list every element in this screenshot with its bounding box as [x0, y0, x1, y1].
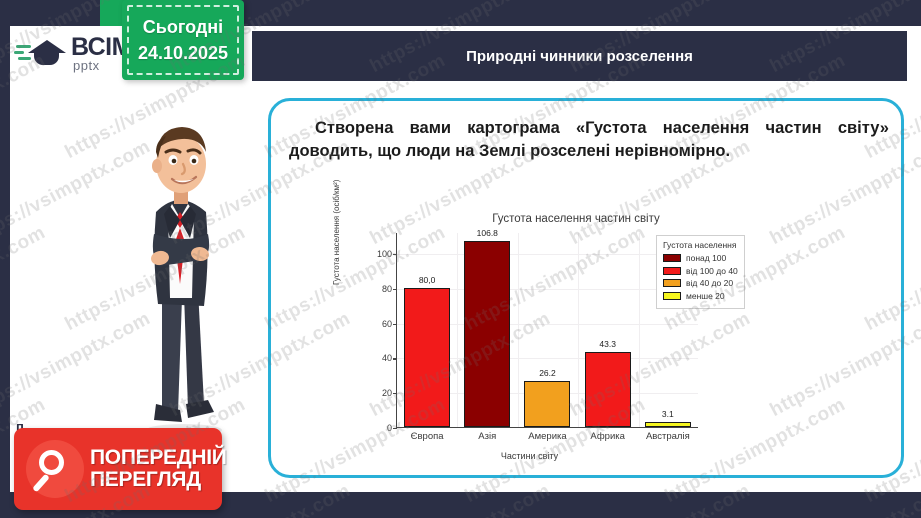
slide-canvas: ВСІМ pptx Сьогодні 24.10.2025 Природні ч…	[0, 0, 921, 518]
x-tick-label: Америка	[528, 431, 566, 442]
chart-bar	[524, 381, 570, 427]
chart-bar	[645, 422, 691, 427]
y-tick-label: 60	[382, 319, 392, 329]
bar-value-label: 106.8	[477, 228, 498, 238]
x-tick-label: Європа	[411, 431, 444, 442]
page-title: Природні чинники розселення	[466, 48, 693, 65]
chart-bar-column: 80,0Європа	[404, 233, 450, 427]
chart-bar	[464, 241, 510, 427]
legend-swatch	[663, 279, 681, 287]
legend-title: Густота населення	[663, 240, 738, 250]
chart-bars: 80,0Європа106.8Азія26.2Америка43.3Африка…	[397, 233, 698, 427]
body-paragraph: Створена вами картограма «Густота населе…	[289, 117, 889, 164]
graduation-cap-icon	[14, 33, 66, 73]
preview-badge-line1: ПОПЕРЕДНІЙ	[90, 447, 227, 469]
preview-badge-line2: ПЕРЕГЛЯД	[90, 469, 227, 491]
legend-label: менше 20	[686, 291, 725, 301]
legend-swatch	[663, 254, 681, 262]
chart-bar-column: 43.3Африка	[585, 233, 631, 427]
left-dark-strip	[0, 26, 10, 492]
legend-row: менше 20	[663, 291, 738, 301]
date-badge-date: 24.10.2025	[138, 43, 228, 64]
y-tick-label: 20	[382, 388, 392, 398]
preview-badge[interactable]: ПОПЕРЕДНІЙ ПЕРЕГЛЯД	[14, 428, 222, 510]
chart-bar	[404, 288, 450, 427]
bar-value-label: 80,0	[419, 275, 436, 285]
legend-label: понад 100	[686, 253, 726, 263]
y-tick-label: 80	[382, 284, 392, 294]
y-tick-label: 40	[382, 353, 392, 363]
today-date-badge: Сьогодні 24.10.2025	[122, 0, 244, 80]
chart-bar	[585, 352, 631, 427]
legend-label: від 100 до 40	[686, 266, 738, 276]
chart-x-axis-label: Частини світу	[361, 451, 698, 461]
bar-value-label: 26.2	[539, 368, 556, 378]
population-density-chart: Густота населення частин світу Густота н…	[361, 213, 791, 468]
magnifier-icon	[26, 440, 84, 498]
x-tick-label: Азія	[478, 431, 496, 442]
legend-row: від 100 до 40	[663, 266, 738, 276]
bar-value-label: 43.3	[599, 339, 616, 349]
bar-value-label: 3.1	[662, 409, 674, 419]
y-tick-label: 100	[377, 249, 392, 259]
x-tick-label: Австралія	[646, 431, 690, 442]
date-badge-label: Сьогодні	[143, 17, 223, 38]
legend-swatch	[663, 267, 681, 275]
chart-bar-column: 26.2Америка	[524, 233, 570, 427]
legend-row: від 40 до 20	[663, 278, 738, 288]
chart-bar-column: 106.8Азія	[464, 233, 510, 427]
y-tick-label: 0	[387, 423, 392, 433]
legend-swatch	[663, 292, 681, 300]
businessman-illustration	[126, 108, 236, 438]
chart-y-axis-label: Густота населення (осіб/км²)	[332, 180, 341, 285]
legend-label: від 40 до 20	[686, 278, 733, 288]
x-tick-label: Африка	[590, 431, 625, 442]
legend-row: понад 100	[663, 253, 738, 263]
slide-header-bar: Природні чинники розселення	[252, 31, 907, 81]
chart-title: Густота населення частин світу	[361, 213, 791, 225]
chart-legend: Густота населення понад 100від 100 до 40…	[656, 235, 745, 309]
chart-plot-area: 020406080100 80,0Європа106.8Азія26.2Амер…	[396, 233, 698, 428]
content-panel: Створена вами картограма «Густота населе…	[268, 98, 904, 478]
brand-logo: ВСІМ pptx	[14, 33, 132, 73]
